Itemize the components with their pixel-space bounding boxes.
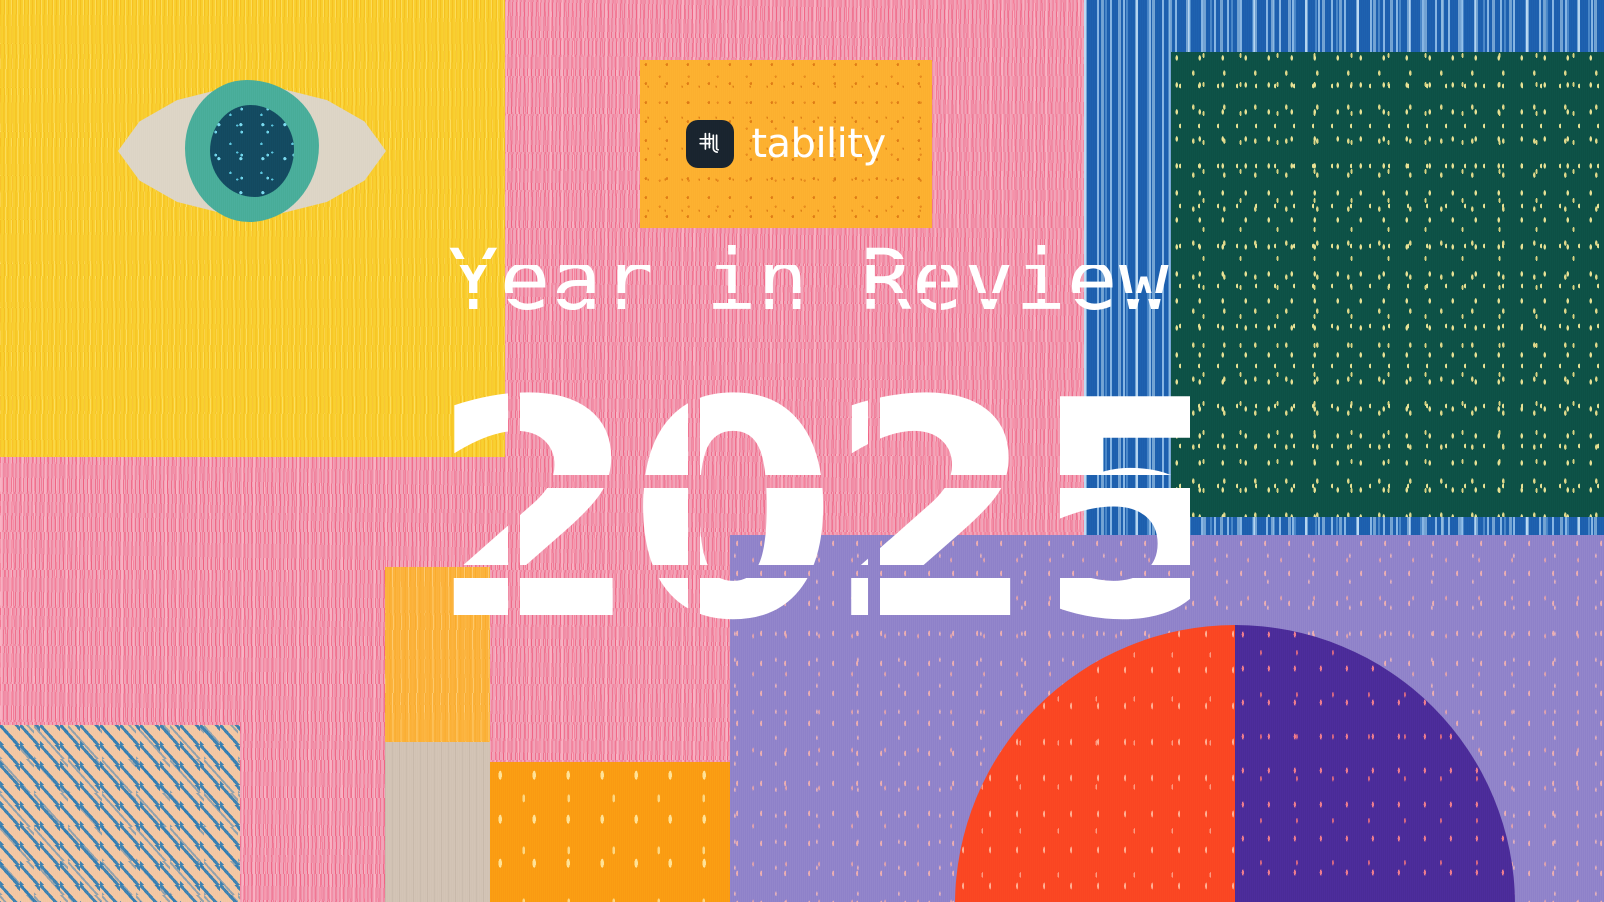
eye-pupil [210,105,294,197]
svg-text:2025: 2025 [430,337,1225,686]
poster-canvas: tability Year in Review [0,0,1604,902]
block-hatch-bottom-left [0,725,240,902]
brand-wordmark: tability [751,124,885,164]
block-orange-bottom-mid [490,762,730,902]
brand-logo-panel: tability [640,60,932,228]
eye-illustration [118,84,386,218]
block-taupe-bottom [385,742,490,902]
year-display: 2025 [430,379,1150,716]
split-circle-right-half [1235,625,1515,902]
block-green-top-right [1171,52,1604,517]
page-title: Year in Review [448,231,1148,355]
svg-text:Year in Review: Year in Review [448,231,1170,329]
tability-logo-icon [686,120,734,168]
